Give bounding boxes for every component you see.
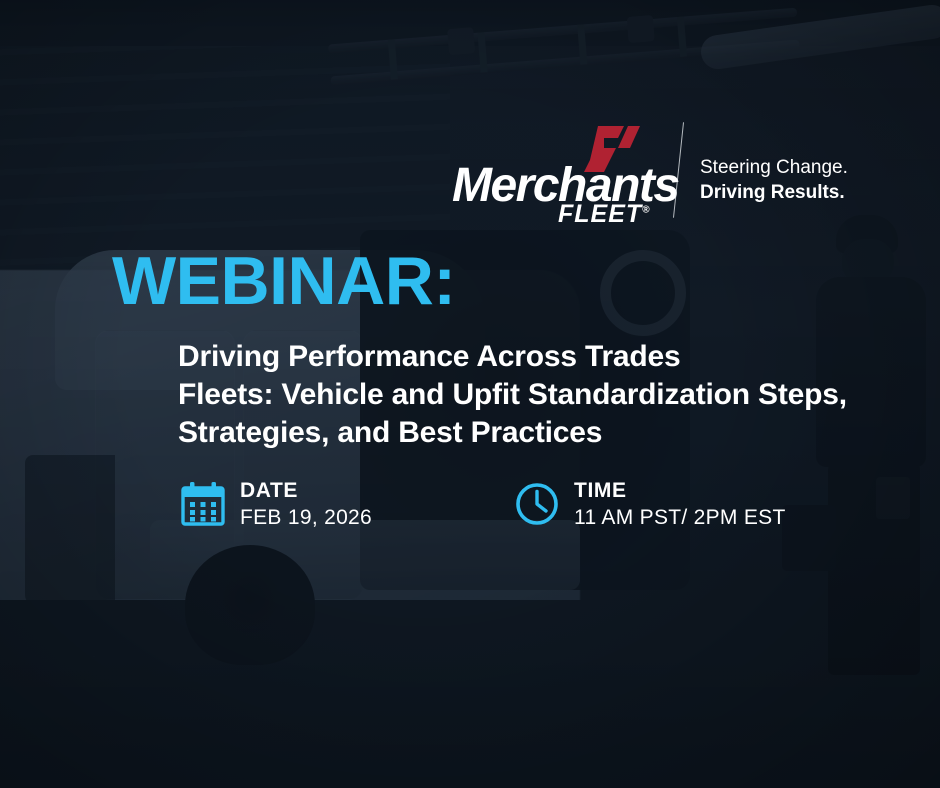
time-value: 11 AM PST/ 2PM EST: [574, 504, 786, 531]
brand-tagline: Steering Change. Driving Results.: [700, 155, 848, 205]
calendar-icon: [180, 481, 226, 527]
fleet-wordmark: FLEET®: [558, 202, 650, 227]
event-details: DATE FEB 19, 2026 TIME 11 AM PST/ 2PM ES…: [180, 478, 786, 531]
detail-date: DATE FEB 19, 2026: [180, 478, 372, 531]
clock-icon: [514, 481, 560, 527]
date-label: DATE: [240, 479, 372, 504]
trademark-symbol: ®: [642, 205, 649, 216]
date-value: FEB 19, 2026: [240, 504, 372, 531]
tagline-line-1: Steering Change.: [700, 155, 848, 180]
fleet-text: FLEET: [558, 200, 642, 228]
date-text: DATE FEB 19, 2026: [240, 478, 372, 531]
time-label: TIME: [574, 479, 786, 504]
webinar-kicker: WEBINAR:: [112, 247, 456, 315]
time-text: TIME 11 AM PST/ 2PM EST: [574, 478, 786, 531]
title-line: Strategies, and Best Practices: [178, 414, 847, 452]
poster-content: Merchants FLEET® Steering Change. Drivin…: [0, 0, 940, 788]
tagline-line-2: Driving Results.: [700, 180, 848, 205]
title-line: Driving Performance Across Trades: [178, 338, 847, 376]
detail-time: TIME 11 AM PST/ 2PM EST: [514, 478, 786, 531]
title-line: Fleets: Vehicle and Upfit Standardizatio…: [178, 376, 847, 414]
webinar-promo-poster: Merchants FLEET® Steering Change. Drivin…: [0, 0, 940, 788]
merchants-fleet-logo: Merchants FLEET®: [452, 126, 672, 226]
logo-block: Merchants FLEET®: [452, 126, 672, 226]
webinar-title: Driving Performance Across Trades Fleets…: [178, 338, 847, 452]
